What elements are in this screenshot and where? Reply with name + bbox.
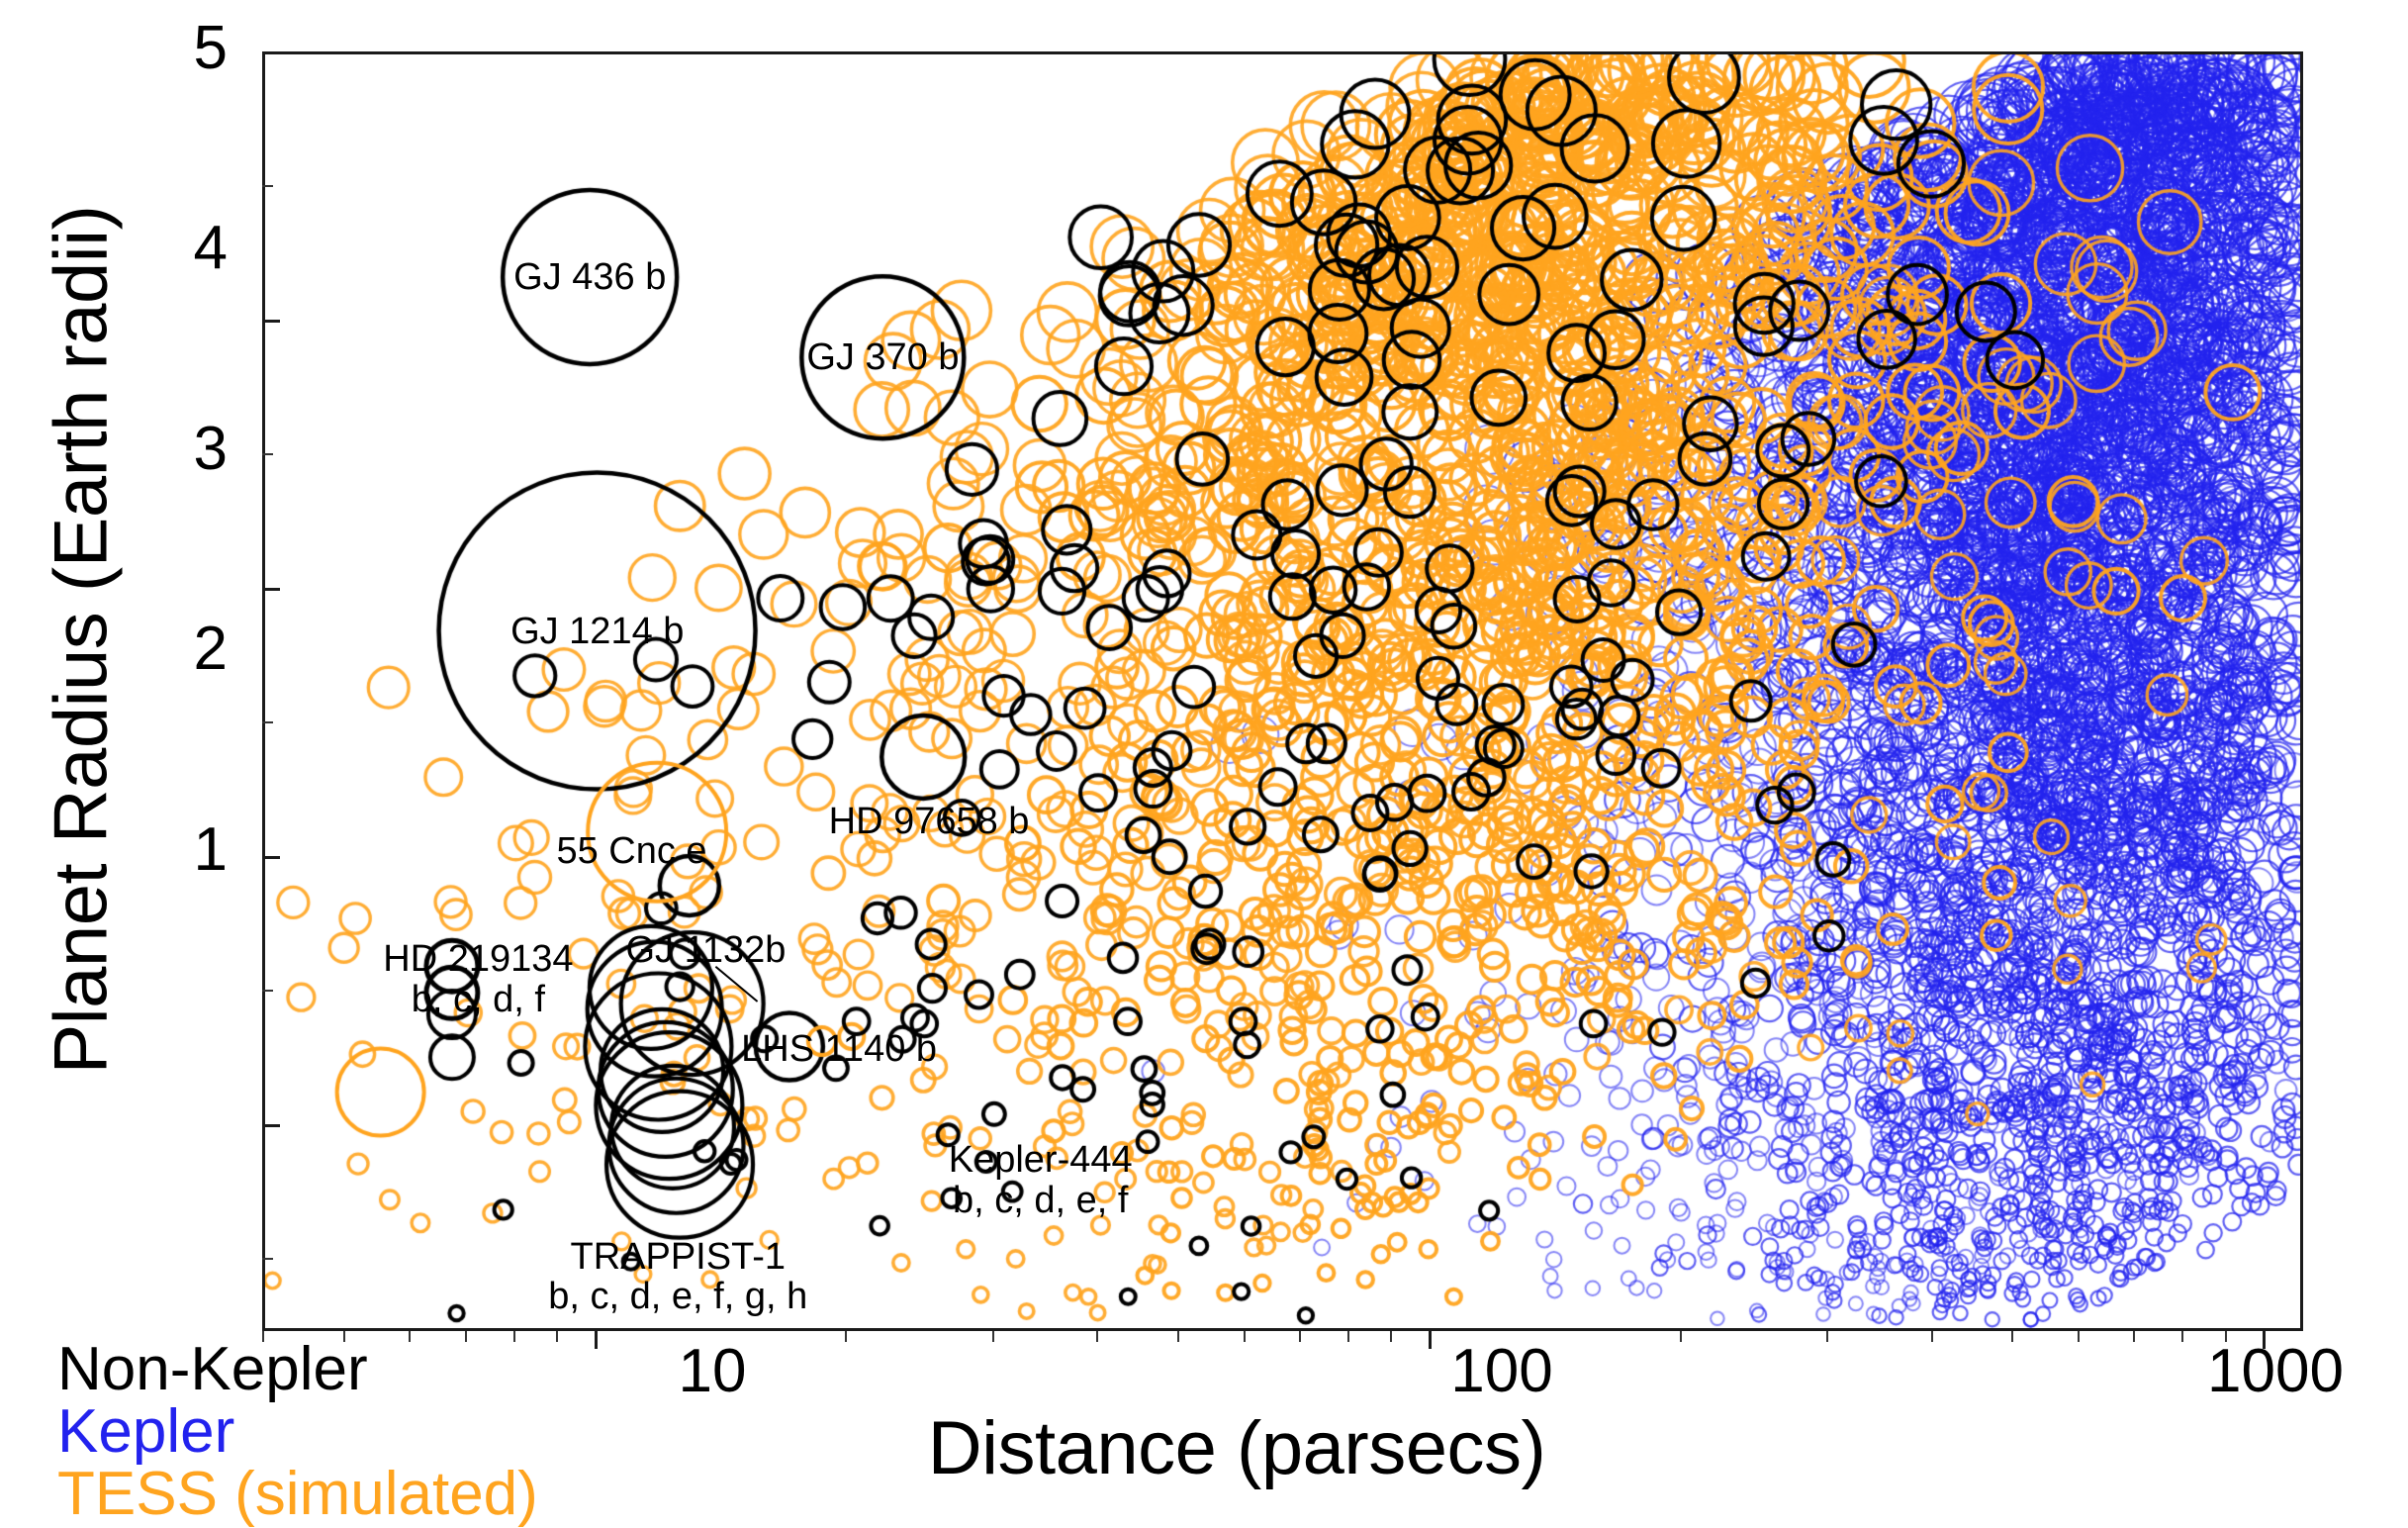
annotation-gj370b: GJ 370 b [806,337,959,377]
y-tick-label-2: 2 [109,619,228,680]
y-minor-tick [262,185,273,187]
scatter-canvas[interactable] [265,54,2300,1328]
annotation-hd219134: HD 219134 b, c, d, f [383,939,573,1019]
y-minor-tick [262,721,273,723]
x-minor-tick [2011,1331,2013,1342]
annotation-kepler444: Kepler-444 b, c, d, e, f [949,1140,1133,1220]
x-minor-tick [1177,1331,1179,1342]
annotation-hd97658b: HD 97658 b [829,802,1030,841]
x-minor-tick [1347,1331,1349,1342]
x-minor-tick [2225,1331,2227,1342]
y-tick-mark-4 [262,320,280,323]
x-minor-tick [1390,1331,1392,1342]
annotation-lhs1140b: LHS 1140 b [741,1029,937,1069]
x-tick-label-1000: 1000 [2137,1341,2408,1402]
x-axis-title: Distance (parsecs) [693,1405,1781,1491]
legend: Non-Kepler Kepler TESS (simulated) [57,1338,538,1526]
x-minor-tick [1244,1331,1246,1342]
y-tick-mark-5 [262,51,280,54]
x-minor-tick [845,1331,847,1342]
annotation-gj1132b: GJ 1132b [625,930,786,970]
x-tick-label-100: 100 [1383,1341,1621,1402]
x-minor-tick [1826,1331,1828,1342]
y-minor-tick [262,453,273,455]
y-tick-mark-3 [262,588,280,591]
x-minor-tick [2078,1331,2080,1342]
y-minor-tick [262,1258,273,1260]
legend-entry-tess-simulated[interactable]: TESS (simulated) [57,1463,538,1525]
y-tick-label-4: 4 [109,218,228,279]
y-tick-label-5: 5 [109,18,228,79]
legend-entry-non-kepler[interactable]: Non-Kepler [57,1338,538,1400]
x-minor-tick [2133,1331,2135,1342]
x-minor-tick [2181,1331,2183,1342]
annotation-trappist: TRAPPIST-1 b, c, d, e, f, g, h [548,1237,807,1317]
y-tick-label-1: 1 [109,819,228,881]
figure-root: Planet Radius (Earth radii) 5 4 3 2 1 10… [0,0,2408,1528]
x-minor-tick [1931,1331,1933,1342]
legend-entry-kepler[interactable]: Kepler [57,1400,538,1463]
y-tick-mark-1 [262,1124,280,1127]
x-minor-tick [1299,1331,1301,1342]
x-tick-mark-1000 [2263,1331,2266,1349]
y-tick-mark-2 [262,856,280,859]
x-tick-label-10: 10 [613,1341,811,1402]
annotation-gj1214b: GJ 1214 b [510,612,684,651]
annotation-cnc55e: 55 Cnc e [556,831,706,871]
y-minor-tick [262,990,273,992]
x-minor-tick [556,1331,558,1342]
y-tick-label-3: 3 [109,419,228,480]
x-minor-tick [1096,1331,1098,1342]
plot-area[interactable]: GJ 436 bGJ 370 bGJ 1214 bHD 97658 b55 Cn… [262,51,2303,1331]
annotation-gj436b: GJ 436 b [513,257,666,297]
x-minor-tick [1680,1331,1682,1342]
x-minor-tick [992,1331,994,1342]
x-tick-mark-100 [1429,1331,1432,1349]
x-tick-mark-10 [595,1331,598,1349]
